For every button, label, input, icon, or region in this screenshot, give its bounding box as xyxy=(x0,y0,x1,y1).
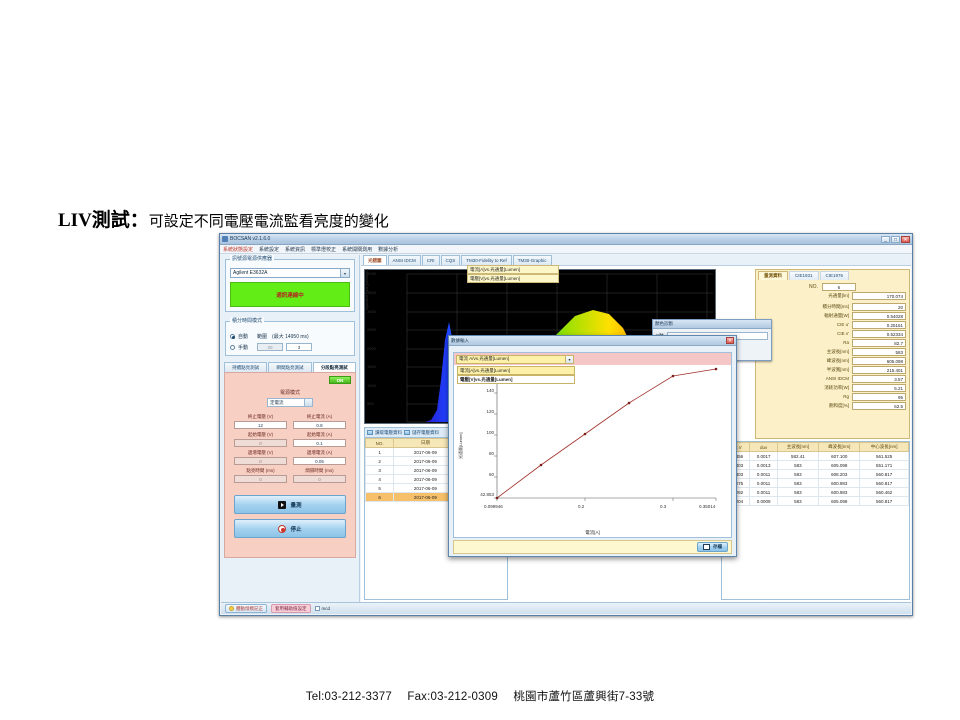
range-auto-input[interactable]: 20 xyxy=(257,343,283,351)
row-rg: Rg95 xyxy=(759,392,906,401)
col-peak: 峰波長[nm] xyxy=(819,443,860,452)
page-title-main: LIV測試： xyxy=(58,210,149,231)
color-dialog-titlebar: 顏色診斷 xyxy=(653,320,771,329)
row-fwhm: 半波寬[nm]215.401 xyxy=(759,365,906,374)
row-value: 583 xyxy=(852,348,906,356)
cell: 0.0011 xyxy=(750,470,777,479)
measurement-tabstrip[interactable]: 量測資料 CIE1931 CIE1976 xyxy=(756,270,909,280)
spectral-table[interactable]: CIE v' duv 主波長[nm] 峰波長[nm] 中心波長[nm] 0.34… xyxy=(722,442,909,506)
lamp-calibration-label: 體動燈模記正 xyxy=(236,606,263,612)
row-key: 主波長[nm] xyxy=(759,349,849,355)
row-integration-time: 積分時間[ms]20 xyxy=(759,302,906,311)
psu-model-value: Agilent E3632A xyxy=(233,270,267,276)
field-value-input[interactable]: 0 xyxy=(234,457,287,465)
legend-item-voltage[interactable]: 電壓[V]vs.光通量[Lumen] xyxy=(467,274,559,283)
row-key: 飽和度[%] xyxy=(759,403,849,409)
menu-item-info[interactable]: 系統資訊 xyxy=(285,246,305,253)
aux-value-button[interactable]: 套用輔助值設定 xyxy=(271,604,311,613)
folder-icon xyxy=(367,430,373,435)
spectrum-ytick: 3500 xyxy=(367,290,376,295)
tab-tm30-fidelity[interactable]: TM30-Fidelity to Ref xyxy=(461,255,512,265)
row-value: 62.5 xyxy=(852,402,906,410)
tab-cie1931[interactable]: CIE1931 xyxy=(789,271,819,280)
cell: 605.098 xyxy=(819,497,860,506)
footer-address: 桃園市蘆竹區蘆興街7-33號 xyxy=(513,691,654,703)
row-value: 170.074 xyxy=(852,292,906,300)
row-value: 82.7 xyxy=(852,339,906,347)
row-luminous-flux: 光通量[lm] 170.074 xyxy=(756,291,909,300)
field-value-input[interactable]: 0.8 xyxy=(293,421,346,429)
cell: 600.983 xyxy=(819,479,860,488)
stop-measure-label: 停止 xyxy=(290,525,301,533)
spectrum-ytick: 500 xyxy=(367,401,374,406)
checkbox-icon[interactable] xyxy=(315,606,320,611)
application-window: BOCSAN v2.1.6.0 _ □ ✕ 系統狀態設定 系統設定 系統資訊 標… xyxy=(219,233,913,616)
col-duv: duv xyxy=(750,443,777,452)
field-interval-time: 間隔時間 (ms) 0 xyxy=(293,468,346,483)
footer-fax: Fax:03-212-0309 xyxy=(407,691,498,703)
window-titlebar: BOCSAN v2.1.6.0 _ □ ✕ xyxy=(220,234,912,245)
menu-bar[interactable]: 系統狀態設定 系統設定 系統資訊 標準燈校正 系統開關測用 數據分析 xyxy=(220,245,912,254)
field-label: 間隔時間 (ms) xyxy=(293,468,346,474)
lamp-calibration-button[interactable]: 體動燈模記正 xyxy=(225,604,267,613)
col-centroid: 中心波長[nm] xyxy=(860,443,909,452)
field-label: 起始電壓 (V) xyxy=(234,432,287,438)
tab-instant[interactable]: 瞬間點亮測試 xyxy=(268,362,311,372)
spectrum-ytick: 2000 xyxy=(367,346,376,351)
row-ra: Ra82.7 xyxy=(759,338,906,347)
field-label: 遞增電流 (A) xyxy=(293,450,346,456)
radio-manual-label: 手動 xyxy=(238,344,248,351)
row-key: Ra xyxy=(759,340,849,345)
field-end-current: 終止電流 (A) 0.8 xyxy=(293,414,346,429)
tab-cri[interactable]: CRI xyxy=(422,255,440,265)
psu-status-text: 通訊連線中 xyxy=(276,291,304,299)
xy-dialog-titlebar: 數據輸入 ✕ xyxy=(449,336,736,346)
row-key: 光通量[lm] xyxy=(759,293,849,299)
row-value: 95 xyxy=(852,393,906,401)
legend-item-current[interactable]: 電流[A]vs.光通量[Lumen] xyxy=(467,265,559,274)
mcd-label: mcd xyxy=(322,606,331,611)
field-start-current: 起始電流 (A) 0.1 xyxy=(293,432,346,447)
row-key: 積分時間[ms] xyxy=(759,304,849,310)
spectrum-ytick: 3000 xyxy=(367,309,376,314)
cell: 0.0011 xyxy=(750,488,777,497)
row-key: ANSI IDCM xyxy=(759,376,849,381)
row-value: 3.57 xyxy=(852,375,906,383)
disk-icon xyxy=(703,544,710,550)
start-measure-label: 量測 xyxy=(290,501,301,509)
drive-mode-label: 電源模式 xyxy=(228,389,352,396)
table-row[interactable]: 0.32920.0011583600.983560.462 xyxy=(723,488,909,497)
field-label: 終止電流 (A) xyxy=(293,414,346,420)
row-radiant-flux: 輻射通量[W]0.54028 xyxy=(759,311,906,320)
row-value: 0.25161 xyxy=(852,321,906,329)
cell: 605.098 xyxy=(819,461,860,470)
save-chart-label: 存檔 xyxy=(713,544,722,550)
disk-icon xyxy=(404,430,410,435)
cell: 0.0013 xyxy=(750,461,777,470)
menu-item-settings[interactable]: 系統設定 xyxy=(259,246,279,253)
row-value: 20 xyxy=(852,303,906,311)
xy-series-dropdown[interactable]: 電流 A/vs.光通量[Lumen] ▾ xyxy=(456,355,574,364)
start-measure-button[interactable]: 量測 xyxy=(234,495,346,514)
cell-no: 2 xyxy=(366,457,394,466)
measurement-data-panel: 量測資料 CIE1931 CIE1976 NO. 6 光通量[lm] 170.0… xyxy=(755,269,910,439)
row-peak-wavelength: 峰波長[nm]605.098 xyxy=(759,356,906,365)
field-step-voltage: 遞增電壓 (V) 0 xyxy=(234,450,287,465)
xy-plot-area: 光通量[Lumen] 電流[A] 42.853 60 80 100 120 14… xyxy=(454,365,731,537)
menu-item-calibration[interactable]: 標準燈校正 xyxy=(311,246,336,253)
mcd-checkbox[interactable]: mcd xyxy=(315,606,331,611)
row-cie-v: CIE v'0.52334 xyxy=(759,329,906,338)
window-title: BOCSAN v2.1.6.0 xyxy=(230,236,881,242)
xy-chart-svg xyxy=(454,365,733,515)
footer-tel: Tel:03-212-3377 xyxy=(306,691,392,703)
close-icon[interactable]: ✕ xyxy=(726,337,734,344)
table-header-row: CIE v' duv 主波長[nm] 峰波長[nm] 中心波長[nm] xyxy=(723,443,909,452)
field-label: 點亮時間 (ms) xyxy=(234,468,287,474)
measurement-rows: 積分時間[ms]20 輻射通量[W]0.54028 CIE u'0.25161 … xyxy=(756,302,909,410)
cell-no: 6 xyxy=(366,493,394,502)
col-dominant: 主波長[nm] xyxy=(777,443,818,452)
tab-ansi-idcm[interactable]: ANSI IDCM xyxy=(388,255,421,265)
close-icon[interactable]: ✕ xyxy=(901,236,910,243)
xy-dialog-title: 數據輸入 xyxy=(451,338,469,344)
save-data-label: 儲存電壓資料 xyxy=(412,430,439,436)
main-tabstrip[interactable]: 光譜圖 ANSI IDCM CRI CQS TM30-Fidelity to R… xyxy=(361,255,911,266)
radio-auto-icon[interactable] xyxy=(230,334,235,339)
spectrum-ytick: 2500 xyxy=(367,327,376,332)
save-chart-button[interactable]: 存檔 xyxy=(697,542,728,552)
menu-item-analysis[interactable]: 數據分析 xyxy=(378,246,398,253)
drive-mode-field: 電源模式 定電流 xyxy=(228,389,352,407)
row-key: 消耗功率[W] xyxy=(759,385,849,391)
slide-footer: Tel:03-212-3377 Fax:03-212-0309 桃園市蘆竹區蘆興… xyxy=(0,688,960,704)
menu-item-switch-test[interactable]: 系統開關測用 xyxy=(342,246,372,253)
row-value: 605.098 xyxy=(852,357,906,365)
cell: 551.171 xyxy=(860,461,909,470)
row-key: 輻射通量[W] xyxy=(759,313,849,319)
field-end-voltage: 終止電壓 (V) 12 xyxy=(234,414,287,429)
cell: 608.203 xyxy=(819,470,860,479)
xy-chart-dialog[interactable]: 數據輸入 ✕ XY相對圖表 電流 A/vs.光通量[Lumen] ▾ 電流[A]… xyxy=(448,335,737,557)
table-row[interactable]: 0.34560.0017582.41607.100561.525 xyxy=(723,452,909,461)
tab-cqs[interactable]: CQS xyxy=(441,255,461,265)
radio-auto-label: 自動 xyxy=(238,333,248,340)
tab-continuous[interactable]: 持續點亮測試 xyxy=(224,362,267,372)
status-bar: 體動燈模記正 套用輔助值設定 mcd xyxy=(221,602,911,614)
xy-dialog-footer: 存檔 xyxy=(453,540,732,554)
tab-tm30-graphic[interactable]: TM30-Graphic xyxy=(513,255,552,265)
xy-xlabel: 電流[A] xyxy=(454,530,731,536)
table-row[interactable]: 0.32040.0009583605.098560.817 xyxy=(723,497,909,506)
row-value: 215.401 xyxy=(852,366,906,374)
drive-mode-value: 定電流 xyxy=(270,400,284,406)
table-row[interactable]: 0.34030.0013583605.098551.171 xyxy=(723,461,909,470)
xy-option-current[interactable]: 電流[A]vs.光通量[Lumen] xyxy=(457,366,575,375)
tab-measurement-data[interactable]: 量測資料 xyxy=(758,271,788,280)
sample-number-value[interactable]: 6 xyxy=(822,283,856,291)
cell: 583 xyxy=(777,461,818,470)
radio-manual-icon[interactable] xyxy=(230,345,235,350)
chevron-down-icon[interactable]: ▾ xyxy=(340,269,349,277)
cell: 560.462 xyxy=(860,488,909,497)
psu-model-dropdown[interactable]: Agilent E3632A ▾ xyxy=(230,268,350,278)
psu-group: 訊號源電源供應器 Agilent E3632A ▾ 通訊連線中 xyxy=(225,259,355,312)
stepped-fields-grid: 終止電壓 (V) 12 終止電流 (A) 0.8 起始電壓 (V) 0 起始電流… xyxy=(228,414,352,483)
row-key: 峰波長[nm] xyxy=(759,358,849,364)
window-controls[interactable]: _ □ ✕ xyxy=(881,236,910,243)
row-power-consumption: 消耗功率[W]5.21 xyxy=(759,383,906,392)
save-data-button[interactable]: 儲存電壓資料 xyxy=(404,430,439,436)
field-value-input[interactable]: 0.05 xyxy=(293,457,346,465)
cell: 0.0017 xyxy=(750,452,777,461)
field-value-input[interactable]: 0.1 xyxy=(293,439,346,447)
row-cie-u: CIE u'0.25161 xyxy=(759,320,906,329)
field-label: 遞增電壓 (V) xyxy=(234,450,287,456)
cell: 560.817 xyxy=(860,470,909,479)
load-data-label: 讀取電壓資料 xyxy=(375,430,402,436)
xy-option-voltage[interactable]: 電壓[V]vs.光通量[Lumen] xyxy=(457,375,575,384)
cell: 560.817 xyxy=(860,479,909,488)
row-value: 0.52334 xyxy=(852,330,906,338)
cell-no: 1 xyxy=(366,448,394,457)
stop-measure-button[interactable]: 停止 xyxy=(234,519,346,538)
row-value: 5.21 xyxy=(852,384,906,392)
left-control-panel: 訊號源電源供應器 Agilent E3632A ▾ 通訊連線中 積分時間模式 自… xyxy=(221,255,360,602)
row-dominant-wavelength: 主波長[nm]583 xyxy=(759,347,906,356)
range-hint: (最大 14950 ms) xyxy=(272,333,309,340)
field-label: 終止電壓 (V) xyxy=(234,414,287,420)
menu-item-status[interactable]: 系統狀態設定 xyxy=(223,246,253,253)
psu-group-label: 訊號源電源供應器 xyxy=(230,255,274,262)
chevron-down-icon[interactable] xyxy=(304,399,312,406)
field-value-input[interactable]: 0 xyxy=(293,475,346,483)
stepped-test-panel: ON 電源模式 定電流 終止電壓 (V) 12 終止電流 (A) 0.8 xyxy=(224,372,356,558)
field-step-current: 遞增電流 (A) 0.05 xyxy=(293,450,346,465)
integration-group-label: 積分時間模式 xyxy=(230,317,264,324)
cell: 600.983 xyxy=(819,488,860,497)
stop-icon xyxy=(278,525,286,533)
cell: 0.0011 xyxy=(750,479,777,488)
col-no: NO. xyxy=(366,439,394,448)
tab-stepped[interactable]: 分段點亮測試 xyxy=(313,362,356,372)
cell-no: 4 xyxy=(366,475,394,484)
load-data-button[interactable]: 讀取電壓資料 xyxy=(367,430,402,436)
psu-status-banner: 通訊連線中 xyxy=(230,282,350,307)
row-key: CIE v' xyxy=(759,331,849,336)
page-title: LIV測試：可設定不同電壓電流監看亮度的變化 xyxy=(58,205,389,232)
cell: 561.525 xyxy=(860,452,909,461)
xy-series-value: 電流 A/vs.光通量[Lumen] xyxy=(459,356,509,362)
tab-spectrum[interactable]: 光譜圖 xyxy=(363,255,387,265)
row-ansi-idcm: ANSI IDCM3.57 xyxy=(759,374,906,383)
power-on-indicator[interactable]: ON xyxy=(329,376,351,384)
xy-series-options[interactable]: 電流[A]vs.光通量[Lumen] 電壓[V]vs.光通量[Lumen] xyxy=(457,366,575,384)
cell-no: 5 xyxy=(366,484,394,493)
table-row[interactable]: 0.34030.0011583608.203560.817 xyxy=(723,470,909,479)
mode-tabstrip[interactable]: 持續點亮測試 瞬間點亮測試 分段點亮測試 xyxy=(224,362,356,372)
bulb-icon xyxy=(229,606,234,611)
maximize-icon[interactable]: □ xyxy=(891,236,900,243)
sample-number-row: NO. 6 xyxy=(756,283,909,291)
integration-group: 積分時間模式 自動 範圍 (最大 14950 ms) 手動 20 3 xyxy=(225,321,355,356)
drive-mode-dropdown[interactable]: 定電流 xyxy=(267,398,313,407)
integration-auto-row[interactable]: 自動 範圍 (最大 14950 ms) xyxy=(230,333,350,340)
sample-number-label: NO. xyxy=(809,284,818,290)
xy-chart-body: 電流 A/vs.光通量[Lumen] ▾ 電流[A]vs.光通量[Lumen] … xyxy=(453,352,732,538)
play-icon xyxy=(278,501,286,509)
row-value: 0.54028 xyxy=(852,312,906,320)
cell: 607.100 xyxy=(819,452,860,461)
spectrum-ytick: 1000 xyxy=(367,383,376,388)
series-legend-list[interactable]: 電流[A]vs.光通量[Lumen] 電壓[V]vs.光通量[Lumen] xyxy=(467,265,559,283)
field-value-input[interactable]: 0 xyxy=(234,475,287,483)
field-on-time: 點亮時間 (ms) 0 xyxy=(234,468,287,483)
cell: 583 xyxy=(777,488,818,497)
spectrum-ytick: 1500 xyxy=(367,364,376,369)
cell: 0.0009 xyxy=(750,497,777,506)
range-label: 範圍 xyxy=(257,333,267,340)
spectrum-ytick: 4000 xyxy=(367,271,376,276)
chevron-down-icon[interactable]: ▾ xyxy=(565,356,573,363)
app-icon xyxy=(222,236,228,242)
row-key: Rg xyxy=(759,394,849,399)
field-value-input[interactable]: 12 xyxy=(234,421,287,429)
table-row[interactable]: 0.32750.0011583600.983560.817 xyxy=(723,479,909,488)
range-manual-input[interactable]: 3 xyxy=(286,343,312,351)
cell: 582.41 xyxy=(777,452,818,461)
row-key: CIE u' xyxy=(759,322,849,327)
cell: 583 xyxy=(777,479,818,488)
xy-series-selector-bar: 電流 A/vs.光通量[Lumen] ▾ xyxy=(454,353,731,365)
field-value-input[interactable]: 0 xyxy=(234,439,287,447)
field-label: 起始電流 (A) xyxy=(293,432,346,438)
integration-manual-row[interactable]: 手動 20 3 xyxy=(230,343,350,351)
row-key: 半波寬[nm] xyxy=(759,367,849,373)
cell: 583 xyxy=(777,470,818,479)
field-start-voltage: 起始電壓 (V) 0 xyxy=(234,432,287,447)
aux-value-label: 套用輔助值設定 xyxy=(275,606,307,612)
cell: 583 xyxy=(777,497,818,506)
page-title-sub: 可設定不同電壓電流監看亮度的變化 xyxy=(149,213,389,230)
minimize-icon[interactable]: _ xyxy=(881,236,890,243)
row-saturation: 飽和度[%]62.5 xyxy=(759,401,906,410)
spectral-table-panel: Read TM30 CIE v' duv 主波長[nm] 峰波長[nm] 中心波… xyxy=(721,441,910,600)
cell-no: 3 xyxy=(366,466,394,475)
tab-cie1976[interactable]: CIE1976 xyxy=(820,271,850,280)
color-dialog-title: 顏色診斷 xyxy=(655,321,673,327)
cell: 560.817 xyxy=(860,497,909,506)
